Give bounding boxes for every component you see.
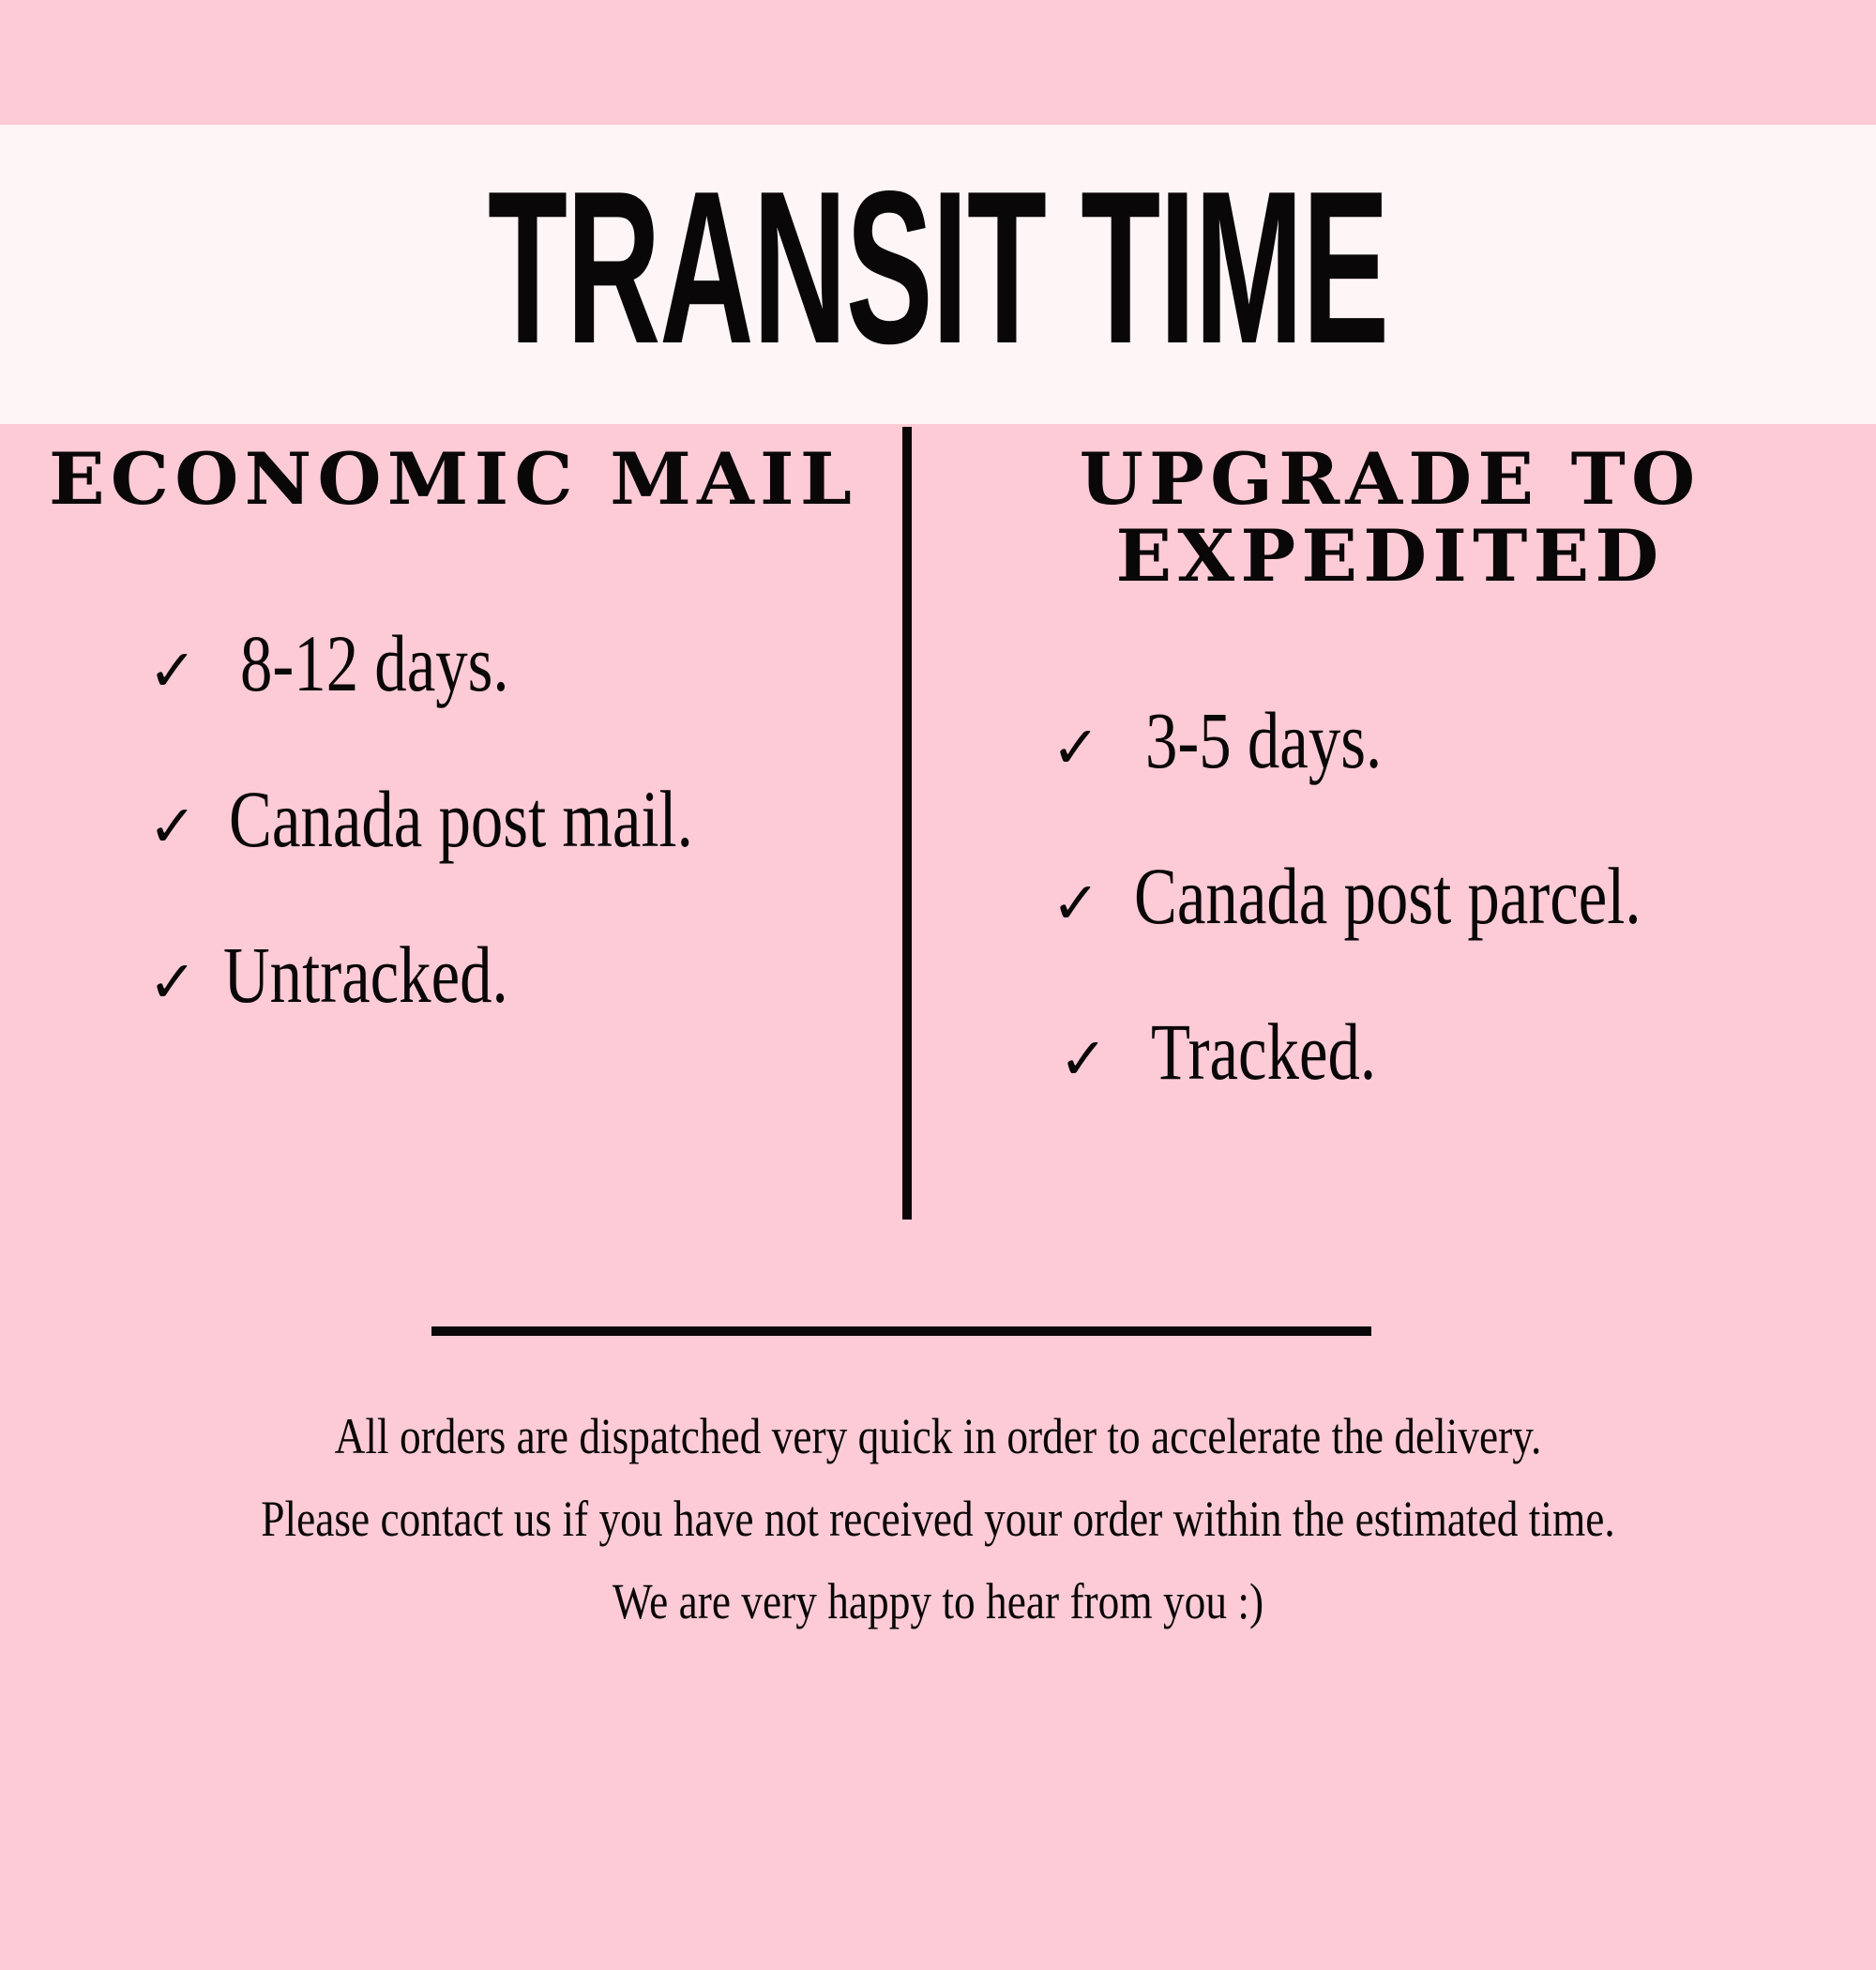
- footer-note-line: We are very happy to hear from you :): [150, 1576, 1726, 1627]
- list-item: ✓ 3-5 days.: [965, 700, 1815, 780]
- column-upgrade-expedited: UPGRADE TO EXPEDITED ✓ 3-5 days. ✓ Canad…: [943, 424, 1815, 1167]
- list-item: ✓ Tracked.: [965, 1011, 1815, 1092]
- footer-note: All orders are dispatched very quick in …: [0, 1411, 1876, 1627]
- transit-time-poster: TRANSIT TIME ECONOMIC MAIL ✓ 8-12 days. …: [0, 0, 1876, 1970]
- list-item: ✓ Canada post parcel.: [965, 856, 1815, 936]
- list-item-label: Tracked.: [1151, 1011, 1376, 1092]
- check-icon: ✓: [148, 953, 197, 1011]
- list-item: ✓ 8-12 days.: [28, 623, 878, 704]
- check-icon: ✓: [148, 797, 197, 856]
- list-item-label: 3-5 days.: [1145, 700, 1382, 780]
- horizontal-divider: [431, 1326, 1371, 1336]
- check-icon: ✓: [1059, 1030, 1108, 1088]
- list-item-label: 8-12 days.: [240, 623, 509, 704]
- column-economic-mail: ECONOMIC MAIL ✓ 8-12 days. ✓ Canada post…: [28, 424, 900, 1090]
- check-icon: ✓: [148, 642, 197, 700]
- column-title-upgrade-expedited: UPGRADE TO EXPEDITED: [952, 424, 1827, 595]
- check-icon: ✓: [1051, 719, 1100, 777]
- page-title: TRANSIT TIME: [488, 179, 1388, 357]
- list-item: ✓ Untracked.: [28, 934, 878, 1015]
- header-band: TRANSIT TIME: [0, 125, 1876, 424]
- check-icon: ✓: [1051, 874, 1100, 932]
- comparison-section: ECONOMIC MAIL ✓ 8-12 days. ✓ Canada post…: [0, 424, 1876, 1268]
- footer-note-line: All orders are dispatched very quick in …: [150, 1411, 1726, 1462]
- feature-list-upgrade-expedited: ✓ 3-5 days. ✓ Canada post parcel. ✓ Trac…: [965, 700, 1815, 1092]
- list-item-label: Canada post mail.: [229, 779, 693, 859]
- vertical-divider: [902, 427, 912, 1220]
- feature-list-economic-mail: ✓ 8-12 days. ✓ Canada post mail. ✓ Untra…: [28, 623, 878, 1015]
- list-item-label: Untracked.: [223, 934, 508, 1015]
- footer-note-line: Please contact us if you have not receiv…: [150, 1493, 1726, 1544]
- list-item: ✓ Canada post mail.: [28, 779, 878, 859]
- column-title-economic-mail: ECONOMIC MAIL: [15, 424, 890, 518]
- list-item-label: Canada post parcel.: [1134, 856, 1641, 936]
